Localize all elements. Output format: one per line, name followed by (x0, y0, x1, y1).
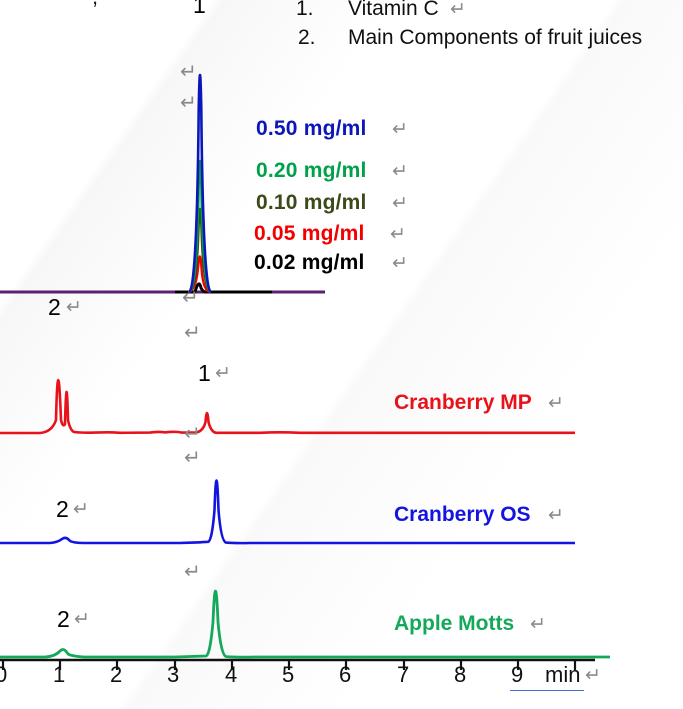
cranberry-mp-chromatogram (0, 300, 683, 460)
axis-tick-2: 2 (110, 664, 122, 686)
return-mark-icon: ↵ (548, 506, 564, 525)
axis-tick-4: 4 (225, 664, 237, 686)
cranberry-os-chromatogram (0, 440, 683, 560)
return-mark-icon: ↵ (530, 615, 546, 634)
legend-conc-0-02: 0.02 mg/ml (254, 252, 365, 273)
return-mark-icon: ↵ (392, 120, 408, 139)
legend-conc-0-20: 0.20 mg/ml (256, 160, 367, 181)
trace-apple-motts (0, 591, 610, 657)
return-mark-icon: ↵ (390, 225, 406, 244)
return-mark-icon: ↵ (180, 93, 197, 113)
legend-conc-0-50: 0.50 mg/ml (256, 118, 367, 139)
return-mark-icon: ↵ (548, 394, 564, 413)
axis-tick-1: 1 (53, 664, 65, 686)
axis-tick-7: 7 (397, 664, 409, 686)
axis-tick-0: 0 (0, 664, 7, 686)
apple-motts-chromatogram (0, 550, 683, 670)
return-mark-icon: ↵ (585, 666, 601, 685)
axis-tick-8: 8 (454, 664, 466, 686)
return-mark-icon: ↵ (392, 162, 408, 181)
legend-conc-0-10: 0.10 mg/ml (256, 192, 367, 213)
legend-conc-0-05: 0.05 mg/ml (254, 223, 365, 244)
return-mark-icon: ↵ (392, 194, 408, 213)
axis-unit-label: min (545, 664, 580, 686)
return-mark-icon: ↵ (180, 62, 197, 82)
axis-tick-5: 5 (282, 664, 294, 686)
axis-tick-9: 9 (511, 664, 523, 686)
grammar-underline (510, 690, 584, 691)
sample-label-cranberry-mp: Cranberry MP (394, 392, 532, 413)
sample-label-apple-motts: Apple Motts (394, 613, 514, 634)
axis-tick-3: 3 (167, 664, 179, 686)
sample-label-cranberry-os: Cranberry OS (394, 504, 531, 525)
axis-tick-6: 6 (339, 664, 351, 686)
return-mark-icon: ↵ (392, 254, 408, 273)
